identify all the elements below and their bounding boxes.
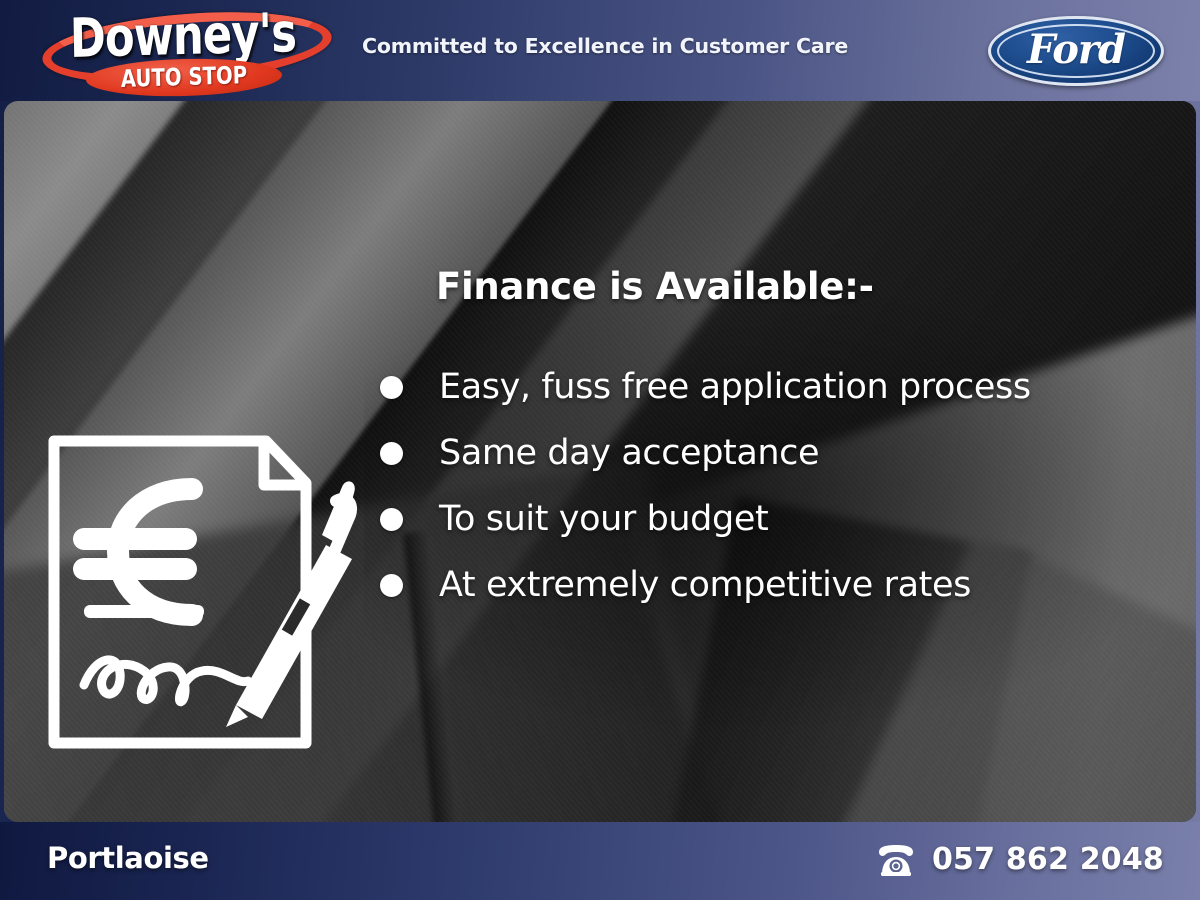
- list-item: Easy, fuss free application process: [380, 354, 1170, 420]
- list-item: To suit your budget: [380, 486, 1170, 552]
- ford-wordmark: Ford: [988, 16, 1164, 86]
- logo-sub-name: AUTO STOP: [103, 56, 264, 98]
- dealer-location: Portlaoise: [47, 841, 209, 875]
- phone-number: 057 862 2048: [932, 842, 1164, 877]
- finance-content: Finance is Available:- Easy, fuss free a…: [4, 101, 1196, 822]
- footer-bar: Portlaoise 057 862 2048: [0, 822, 1200, 900]
- bullet-dot-icon: [380, 508, 403, 531]
- bullet-dot-icon: [380, 574, 403, 597]
- list-item: At extremely competitive rates: [380, 552, 1170, 618]
- list-item-label: Easy, fuss free application process: [439, 367, 1031, 407]
- finance-advert-poster: Downey's AUTO STOP Committed to Excellen…: [0, 0, 1200, 900]
- benefits-list: Easy, fuss free application process Same…: [380, 354, 1170, 618]
- list-item: Same day acceptance: [380, 420, 1170, 486]
- downeys-logo[interactable]: Downey's AUTO STOP: [28, 4, 338, 98]
- ford-logo[interactable]: Ford: [988, 16, 1164, 86]
- bullet-dot-icon: [380, 376, 403, 399]
- list-item-label: At extremely competitive rates: [439, 565, 971, 605]
- main-dark-panel: Finance is Available:- Easy, fuss free a…: [4, 101, 1196, 822]
- bullet-dot-icon: [380, 442, 403, 465]
- header-tagline: Committed to Excellence in Customer Care: [362, 34, 848, 58]
- list-item-label: Same day acceptance: [439, 433, 819, 473]
- header-bar: Downey's AUTO STOP Committed to Excellen…: [0, 0, 1200, 101]
- telephone-icon: [876, 844, 916, 876]
- page-title: Finance is Available:-: [436, 265, 874, 308]
- contact-phone[interactable]: 057 862 2048: [876, 842, 1164, 877]
- list-item-label: To suit your budget: [439, 499, 768, 539]
